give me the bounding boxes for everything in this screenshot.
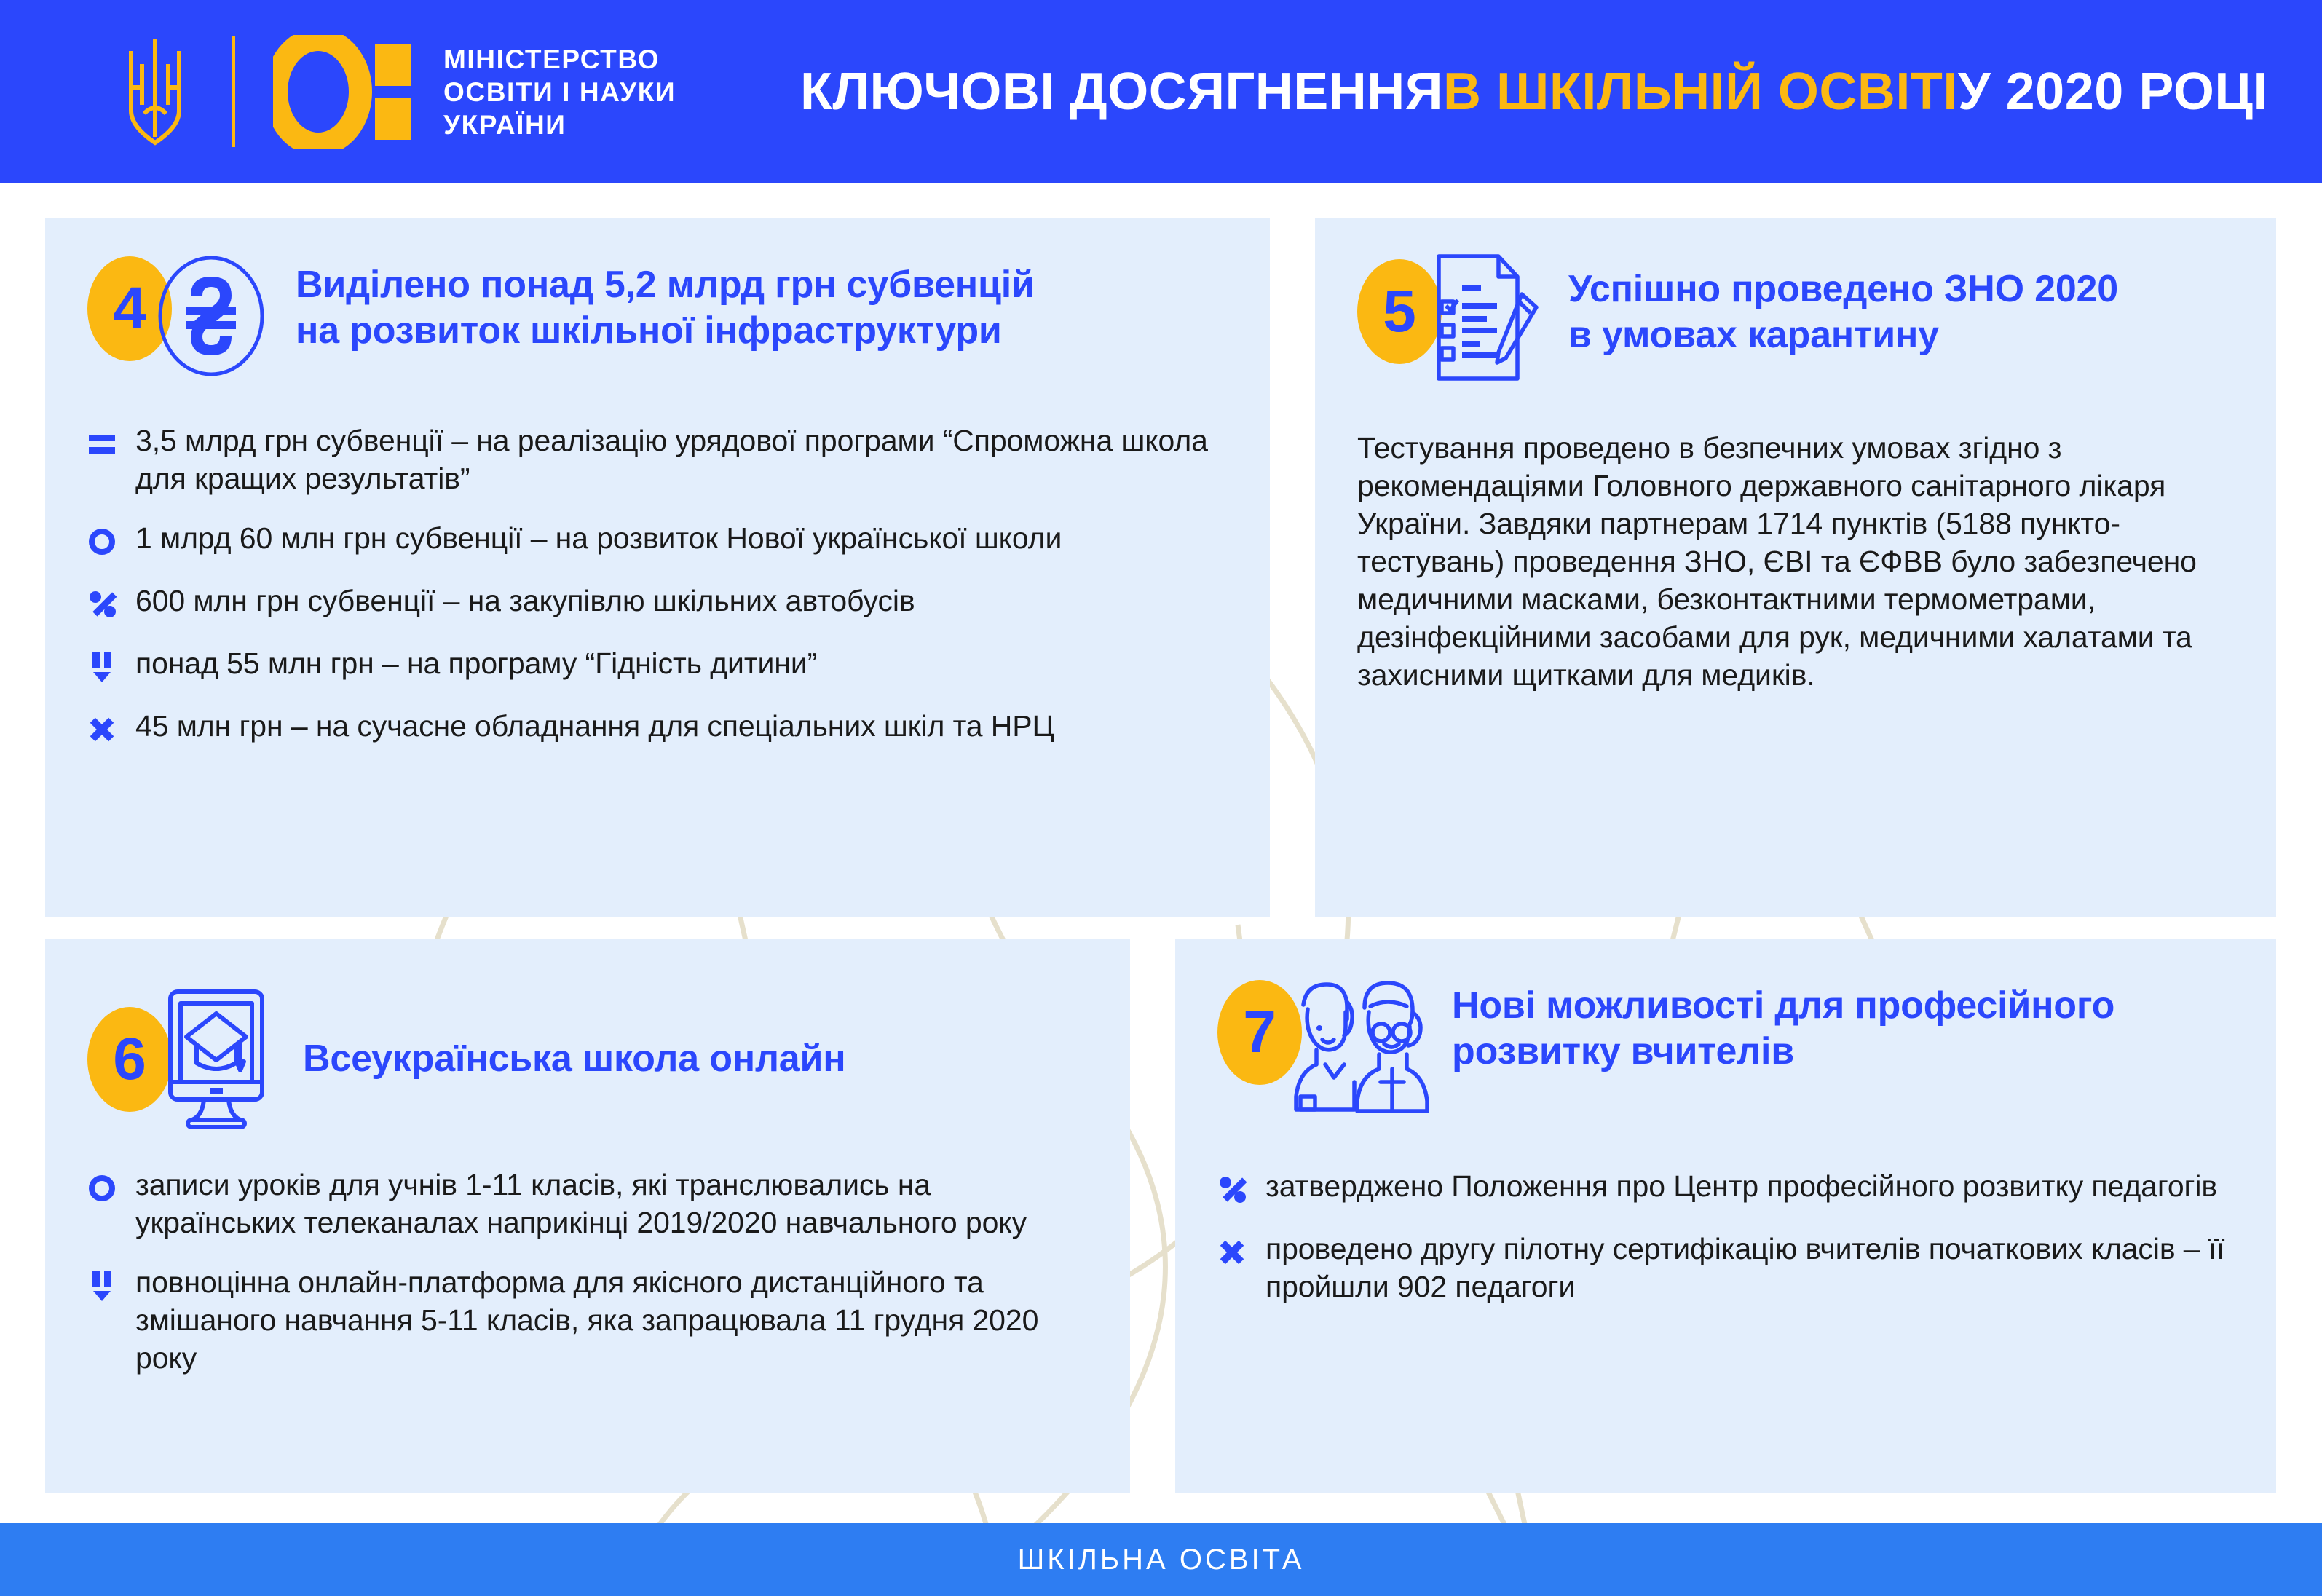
card-7-header: 7 [1217,980,2232,1122]
card-6-bullet-1-text: записи уроків для учнів 1-11 класів, які… [135,1166,1086,1241]
card-6-header: 6 [87,984,1086,1134]
list-item: 45 млн грн – на сучасне обладнання для с… [87,707,1226,748]
page-title: КЛЮЧОВІ ДОСЯГНЕННЯ В ШКІЛЬНІЙ ОСВІТІ У 2… [0,0,2322,183]
card-6-bullet-2-text: повноцінна онлайн-платформа для якісного… [135,1263,1086,1377]
card-7-bullets: затверджено Положення про Центр професій… [1217,1167,2232,1305]
card-4-bullets: 3,5 млрд грн субвенції – на реалізацію у… [87,422,1226,748]
hryvnia-circle-icon [149,252,274,384]
card-6-title: Всеукраїнська школа онлайн [303,1036,1046,1082]
page-title-part-1: КЛЮЧОВІ ДОСЯГНЕННЯ [800,62,1443,122]
list-item: повноцінна онлайн-платформа для якісного… [87,1263,1086,1377]
checklist-pencil-icon [1420,249,1549,388]
percent-icon [87,586,135,623]
card-6-all-ukrainian-online-school: 6 [45,939,1130,1493]
ring-icon [87,1170,135,1206]
list-item: проведено другу пілотну сертифікацію вчи… [1217,1230,2232,1305]
monitor-graduation-cap-icon [150,984,283,1134]
card-4-school-infrastructure: 4 Виділено понад 5,2 млрд грн [45,218,1270,917]
card-4-header: 4 Виділено понад 5,2 млрд грн [87,256,1226,384]
two-teachers-icon [1279,973,1434,1122]
card-4-bullet-5-text: 45 млн грн – на сучасне обладнання для с… [135,707,1054,745]
footer-label: ШКІЛЬНА ОСВІТА [1018,1544,1305,1576]
list-item: 3,5 млрд грн субвенції – на реалізацію у… [87,422,1226,497]
list-item: затверджено Положення про Центр професій… [1217,1167,2232,1208]
cross-icon [87,711,135,748]
infographic-page: МІНІСТЕРСТВО ОСВІТИ І НАУКИ УКРАЇНИ КЛЮЧ… [0,0,2322,1596]
card-4-bullet-2-text: 1 млрд 60 млн грн субвенції – на розвито… [135,519,1062,557]
page-header: МІНІСТЕРСТВО ОСВІТИ І НАУКИ УКРАЇНИ КЛЮЧ… [0,0,2322,183]
page-title-accent: В ШКІЛЬНІЙ ОСВІТІ [1443,62,1958,122]
equals-icon [87,426,135,462]
list-item: понад 55 млн грн – на програму “Гідність… [87,644,1226,685]
card-4-bullet-3-text: 600 млн грн субвенції – на закупівлю шкі… [135,582,915,620]
cards-row-bottom: 6 [45,917,2277,1493]
cross-icon [1217,1234,1265,1271]
ring-icon [87,524,135,560]
card-4-title: Виділено понад 5,2 млрд грн субвенцій на… [296,262,1038,354]
list-item: 600 млн грн субвенції – на закупівлю шкі… [87,582,1226,623]
page-title-part-2: У 2020 РОЦІ [1958,62,2268,122]
card-5-title: Успішно проведено ЗНО 2020 в умовах кара… [1568,266,2122,358]
list-item: 1 млрд 60 млн грн субвенції – на розвито… [87,519,1226,560]
card-7-teacher-development: 7 [1175,939,2276,1493]
card-7-bullet-1-text: затверджено Положення про Центр професій… [1265,1167,2217,1205]
cards-row-top: 4 Виділено понад 5,2 млрд грн [45,218,2277,917]
pause-down-icon [87,1268,135,1304]
cards-grid: 4 Виділено понад 5,2 млрд грн [45,218,2277,1493]
list-item: записи уроків для учнів 1-11 класів, які… [87,1166,1086,1241]
pause-down-icon [87,649,135,685]
card-5-header: 5 [1357,259,2228,388]
percent-icon [1217,1172,1265,1208]
card-4-bullet-1-text: 3,5 млрд грн субвенції – на реалізацію у… [135,422,1226,497]
card-5-zno-2020: 5 [1315,218,2276,917]
card-4-bullet-4-text: понад 55 млн грн – на програму “Гідність… [135,644,817,682]
card-7-title: Нові можливості для професійного розвитк… [1452,983,2224,1075]
card-6-bullets: записи уроків для учнів 1-11 класів, які… [87,1166,1086,1377]
card-5-paragraph: Тестування проведено в безпечних умовах … [1357,429,2228,694]
page-footer: ШКІЛЬНА ОСВІТА [0,1523,2322,1596]
card-7-bullet-2-text: проведено другу пілотну сертифікацію вчи… [1265,1230,2232,1305]
